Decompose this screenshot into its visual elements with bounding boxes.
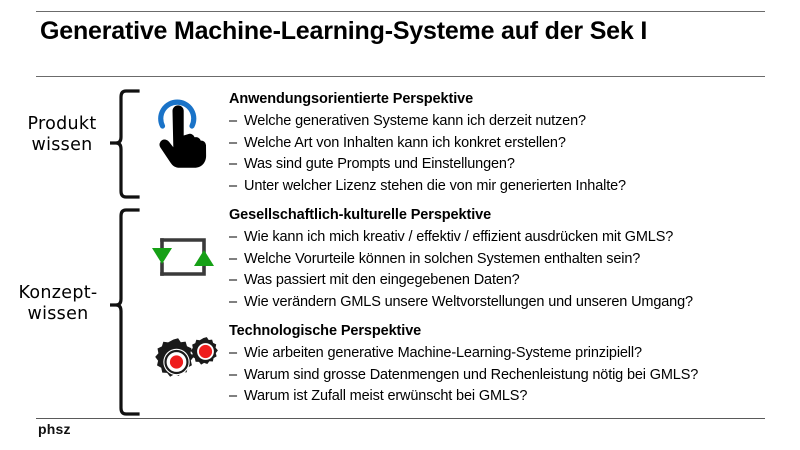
bullet-dash: – bbox=[229, 249, 237, 271]
list-item: –Was passiert mit den eingegebenen Daten… bbox=[229, 270, 693, 292]
bullet-dash: – bbox=[229, 111, 237, 133]
group-label-konzeptwissen: Konzept- wissen bbox=[2, 283, 114, 325]
list-item: –Was sind gute Prompts und Einstellungen… bbox=[229, 154, 626, 176]
list-item-text: Was passiert mit den eingegebenen Daten? bbox=[244, 272, 520, 288]
list-item: –Wie arbeiten generative Machine-Learnin… bbox=[229, 343, 698, 365]
block-question-list: –Wie arbeiten generative Machine-Learnin… bbox=[229, 343, 698, 408]
perspective-block-technologisch: Technologische Perspektive –Wie arbeiten… bbox=[229, 322, 698, 408]
divider-under-title bbox=[36, 76, 765, 77]
group-label-konzeptwissen-line2: wissen bbox=[2, 304, 114, 325]
list-item-text: Was sind gute Prompts und Einstellungen? bbox=[244, 156, 515, 172]
bullet-dash: – bbox=[229, 270, 237, 292]
block-heading: Gesellschaftlich-kulturelle Perspektive bbox=[229, 206, 693, 225]
list-item: –Warum ist Zufall meist erwünscht bei GM… bbox=[229, 386, 698, 408]
list-item-text: Warum ist Zufall meist erwünscht bei GML… bbox=[244, 388, 527, 404]
tap-hand-icon bbox=[148, 98, 210, 170]
divider-top bbox=[36, 11, 765, 12]
list-item-text: Wie arbeiten generative Machine-Learning… bbox=[244, 345, 642, 361]
bullet-dash: – bbox=[229, 133, 237, 155]
list-item: –Welche Art von Inhalten kann ich konkre… bbox=[229, 133, 626, 155]
bullet-dash: – bbox=[229, 176, 237, 198]
list-item-text: Wie verändern GMLS unsere Weltvorstellun… bbox=[244, 294, 693, 310]
list-item: –Wie kann ich mich kreativ / effektiv / … bbox=[229, 227, 693, 249]
perspective-block-gesellschaftlich-kulturell: Gesellschaftlich-kulturelle Perspektive … bbox=[229, 206, 693, 313]
gear-small bbox=[191, 337, 218, 365]
bullet-dash: – bbox=[229, 343, 237, 365]
group-label-produktwissen: Produkt wissen bbox=[6, 114, 118, 156]
block-question-list: –Welche generativen Systeme kann ich der… bbox=[229, 111, 626, 197]
bullet-dash: – bbox=[229, 227, 237, 249]
loop-arrows-icon bbox=[150, 228, 216, 286]
list-item: –Welche Vorurteile können in solchen Sys… bbox=[229, 249, 693, 271]
slide-canvas: Generative Machine-Learning-Systeme auf … bbox=[0, 0, 800, 450]
list-item-text: Wie kann ich mich kreativ / effektiv / e… bbox=[244, 229, 673, 245]
list-item: –Welche generativen Systeme kann ich der… bbox=[229, 111, 626, 133]
list-item-text: Welche generativen Systeme kann ich derz… bbox=[244, 113, 586, 129]
list-item: –Wie verändern GMLS unsere Weltvorstellu… bbox=[229, 292, 693, 314]
gear-large bbox=[155, 338, 194, 377]
footer-logo-text: phsz bbox=[38, 421, 71, 437]
group-label-konzeptwissen-line1: Konzept- bbox=[2, 283, 114, 304]
group-label-produktwissen-line1: Produkt bbox=[6, 114, 118, 135]
group-label-produktwissen-line2: wissen bbox=[6, 135, 118, 156]
gears-icon bbox=[146, 332, 226, 394]
list-item: –Unter welcher Lizenz stehen die von mir… bbox=[229, 176, 626, 198]
bullet-dash: – bbox=[229, 365, 237, 387]
block-question-list: –Wie kann ich mich kreativ / effektiv / … bbox=[229, 227, 693, 313]
bullet-dash: – bbox=[229, 154, 237, 176]
list-item: –Warum sind grosse Datenmengen und Reche… bbox=[229, 365, 698, 387]
list-item-text: Unter welcher Lizenz stehen die von mir … bbox=[244, 178, 626, 194]
list-item-text: Welche Vorurteile können in solchen Syst… bbox=[244, 251, 640, 267]
perspective-block-anwendungsorientiert: Anwendungsorientierte Perspektive –Welch… bbox=[229, 90, 626, 197]
block-heading: Technologische Perspektive bbox=[229, 322, 698, 341]
list-item-text: Welche Art von Inhalten kann ich konkret… bbox=[244, 135, 566, 151]
block-heading: Anwendungsorientierte Perspektive bbox=[229, 90, 626, 109]
list-item-text: Warum sind grosse Datenmengen und Rechen… bbox=[244, 367, 698, 383]
bullet-dash: – bbox=[229, 292, 237, 314]
bracket-konzeptwissen bbox=[108, 207, 142, 417]
bracket-produktwissen bbox=[108, 88, 142, 200]
bullet-dash: – bbox=[229, 386, 237, 408]
divider-bottom bbox=[36, 418, 765, 419]
page-title: Generative Machine-Learning-Systeme auf … bbox=[40, 16, 647, 46]
